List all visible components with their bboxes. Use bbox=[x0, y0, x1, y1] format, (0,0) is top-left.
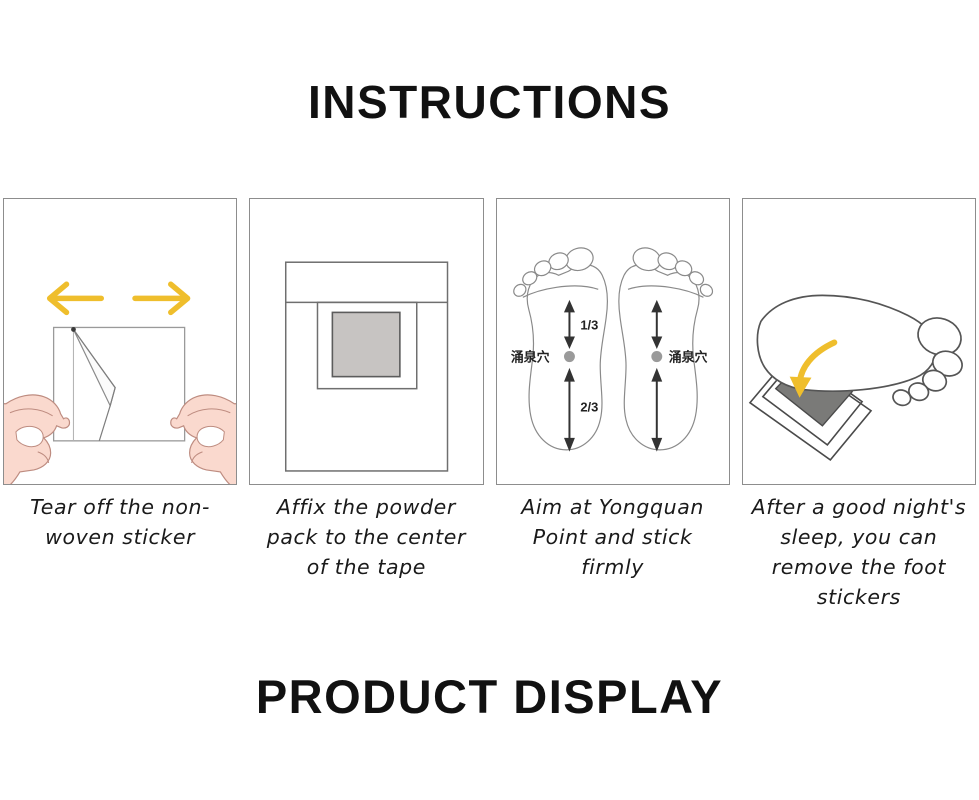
right-arrow-icon bbox=[135, 284, 188, 312]
caption-step-4: After a good night's sleep, you can remo… bbox=[742, 492, 976, 622]
page-title-product-display: PRODUCT DISPLAY bbox=[0, 670, 979, 724]
page-title-instructions: INSTRUCTIONS bbox=[0, 76, 979, 128]
caption-step-3: Aim at Yongquan Point and stick firmly bbox=[496, 492, 730, 622]
instruction-panel-2-affix-powder-pack bbox=[249, 198, 483, 485]
instruction-panel-3-aim-at-yongquan: 1/3 涌泉穴 2/3 bbox=[496, 198, 730, 485]
acupoint-label-right: 涌泉穴 bbox=[668, 350, 707, 366]
left-arrow-icon bbox=[50, 284, 102, 312]
fraction-upper-label: 1/3 bbox=[580, 317, 598, 332]
instruction-captions: Tear off the non-woven sticker Affix the… bbox=[3, 492, 976, 622]
panel-1-illustration bbox=[4, 199, 236, 484]
panel-2-illustration bbox=[250, 199, 482, 484]
powder-pack-icon bbox=[333, 312, 400, 376]
panel-4-illustration bbox=[743, 199, 975, 484]
acupoint-label-left: 涌泉穴 bbox=[510, 350, 549, 366]
instruction-panel-4-remove-after-sleep bbox=[742, 198, 976, 485]
acupoint-dot-icon bbox=[563, 351, 574, 362]
sticker-sheet-icon bbox=[54, 327, 185, 441]
caption-step-2: Affix the powder pack to the center of t… bbox=[249, 492, 483, 622]
fraction-lower-label: 2/3 bbox=[580, 400, 598, 415]
instruction-panel-1-tear-off-sticker bbox=[3, 198, 237, 485]
instruction-panels: 1/3 涌泉穴 2/3 bbox=[3, 198, 976, 485]
left-foot-sole-icon bbox=[511, 245, 607, 450]
panel-3-illustration: 1/3 涌泉穴 2/3 bbox=[497, 199, 729, 484]
caption-step-1: Tear off the non-woven sticker bbox=[3, 492, 237, 622]
right-foot-sole-icon bbox=[618, 245, 714, 450]
acupoint-dot-icon bbox=[651, 351, 662, 362]
